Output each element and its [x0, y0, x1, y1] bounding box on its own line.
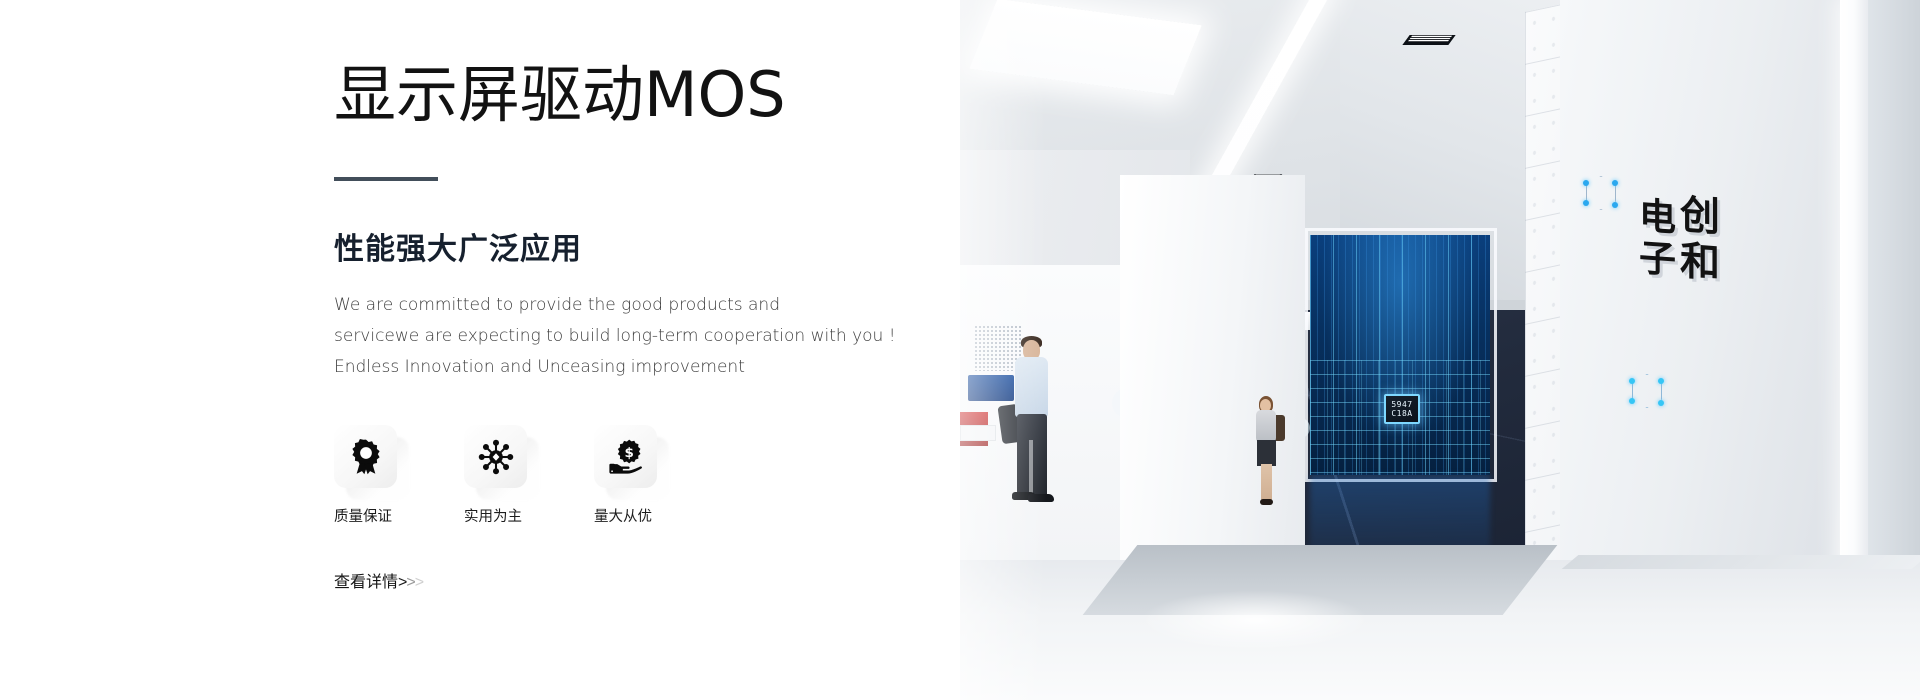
chevron-3-icon: > — [415, 574, 423, 592]
wall-signage-column-2: 电 子 — [1639, 195, 1676, 388]
person-shirt — [1015, 357, 1048, 417]
person-leg-gap — [1029, 440, 1033, 496]
feature-label: 量大从优 — [594, 505, 691, 526]
view-details-label: 查看详情 — [334, 568, 398, 592]
hero-banner: 5947 C18A 创 和 电 子 — [0, 0, 1920, 700]
hand-money-icon: $ — [607, 438, 645, 476]
feature-item-quality[interactable]: 质量保证 — [334, 425, 431, 526]
wall-signage-text: 创 和 电 子 — [1580, 191, 1720, 391]
floor-light-glow — [1140, 590, 1370, 650]
person-skirt — [1257, 440, 1276, 466]
person-shoe — [1260, 499, 1273, 505]
feature-item-practical[interactable]: 实用为主 — [464, 425, 561, 526]
award-ribbon-icon — [347, 438, 385, 476]
feature-item-bulk-discount[interactable]: $ 量大从优 — [594, 425, 691, 526]
wall-signage-char: 创 — [1680, 192, 1720, 241]
title-divider — [334, 177, 438, 181]
chevron-1-icon: > — [398, 574, 406, 592]
page-subtitle: 性能强大广泛应用 — [334, 224, 894, 268]
page-title: 显示屏驱动MOS — [334, 62, 894, 127]
feature-tile — [464, 425, 527, 488]
person-legs — [1261, 464, 1272, 502]
description-line-2: servicewe are expecting to build long-te… — [334, 321, 894, 352]
feature-tile: $ — [594, 425, 657, 488]
wall-white-sign — [960, 425, 996, 441]
hexagon-molecule-icon — [1632, 374, 1662, 408]
ceiling-emblem-icon — [1402, 35, 1455, 45]
wall-signage-char: 子 — [1639, 237, 1676, 282]
wall-signage-char: 电 — [1639, 195, 1676, 240]
feature-list: 质量保证 — [334, 425, 894, 526]
person-shoe — [1028, 494, 1054, 502]
network-hub-icon — [477, 438, 515, 476]
chevron-2-icon: > — [406, 574, 414, 592]
wall-blue-sign — [968, 375, 1014, 401]
view-details-link[interactable]: 查看详情>>> — [334, 568, 423, 592]
wall-signage-char: 和 — [1680, 238, 1720, 287]
floor-strip — [1562, 555, 1920, 569]
showroom-photo: 5947 C18A 创 和 电 子 — [960, 0, 1920, 700]
feature-label: 实用为主 — [464, 505, 561, 526]
text-panel: 显示屏驱动MOS 性能强大广泛应用 We are committed to pr… — [0, 0, 960, 700]
feature-label: 质量保证 — [334, 505, 431, 526]
description-line-1: We are committed to provide the good pro… — [334, 290, 894, 321]
feature-tile — [334, 425, 397, 488]
led-screen-frame — [1305, 228, 1497, 482]
description-line-3: Endless Innovation and Unceasing improve… — [334, 352, 894, 383]
description-text: We are committed to provide the good pro… — [334, 290, 894, 383]
wall-signage-column-1: 创 和 — [1680, 192, 1720, 391]
svg-text:$: $ — [624, 446, 633, 461]
person-blouse — [1256, 410, 1276, 443]
text-content: 显示屏驱动MOS 性能强大广泛应用 We are committed to pr… — [334, 62, 894, 592]
